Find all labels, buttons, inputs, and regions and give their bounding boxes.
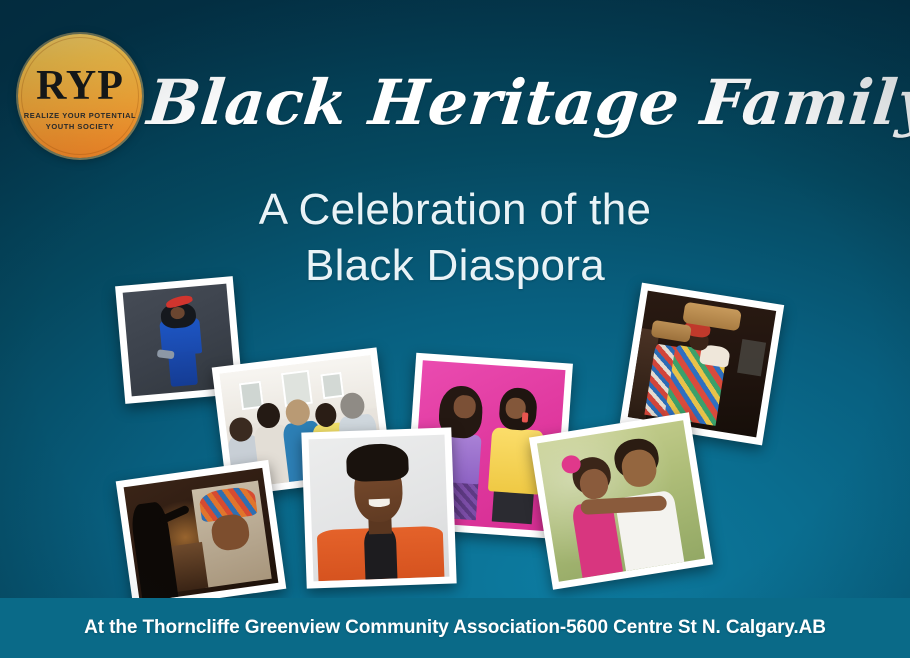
photo-two-children-hugging (529, 412, 713, 589)
venue-footer: At the Thorncliffe Greenview Community A… (0, 598, 910, 658)
wall-frame-c (321, 372, 345, 399)
photo-two-children-hugging-image (537, 420, 705, 581)
black-tee (363, 527, 397, 579)
venue-address: At the Thorncliffe Greenview Community A… (84, 617, 826, 639)
photo-man-orange-shirt (301, 427, 456, 588)
photo-collage (0, 0, 910, 658)
photo-man-orange-shirt-image (309, 435, 450, 582)
earring (522, 413, 528, 423)
smile-shape (369, 499, 390, 507)
window-light (738, 339, 766, 376)
event-poster: RYP REALIZE YOUR POTENTIAL YOUTH SOCIETY… (0, 0, 910, 658)
photo-artist-painting-portrait (116, 460, 287, 610)
photo-artist-painting-portrait-image (124, 468, 279, 602)
photo-traditional-dress-baskets-image (628, 291, 776, 438)
hair-shape (346, 443, 410, 482)
clutch-bag (157, 350, 175, 360)
